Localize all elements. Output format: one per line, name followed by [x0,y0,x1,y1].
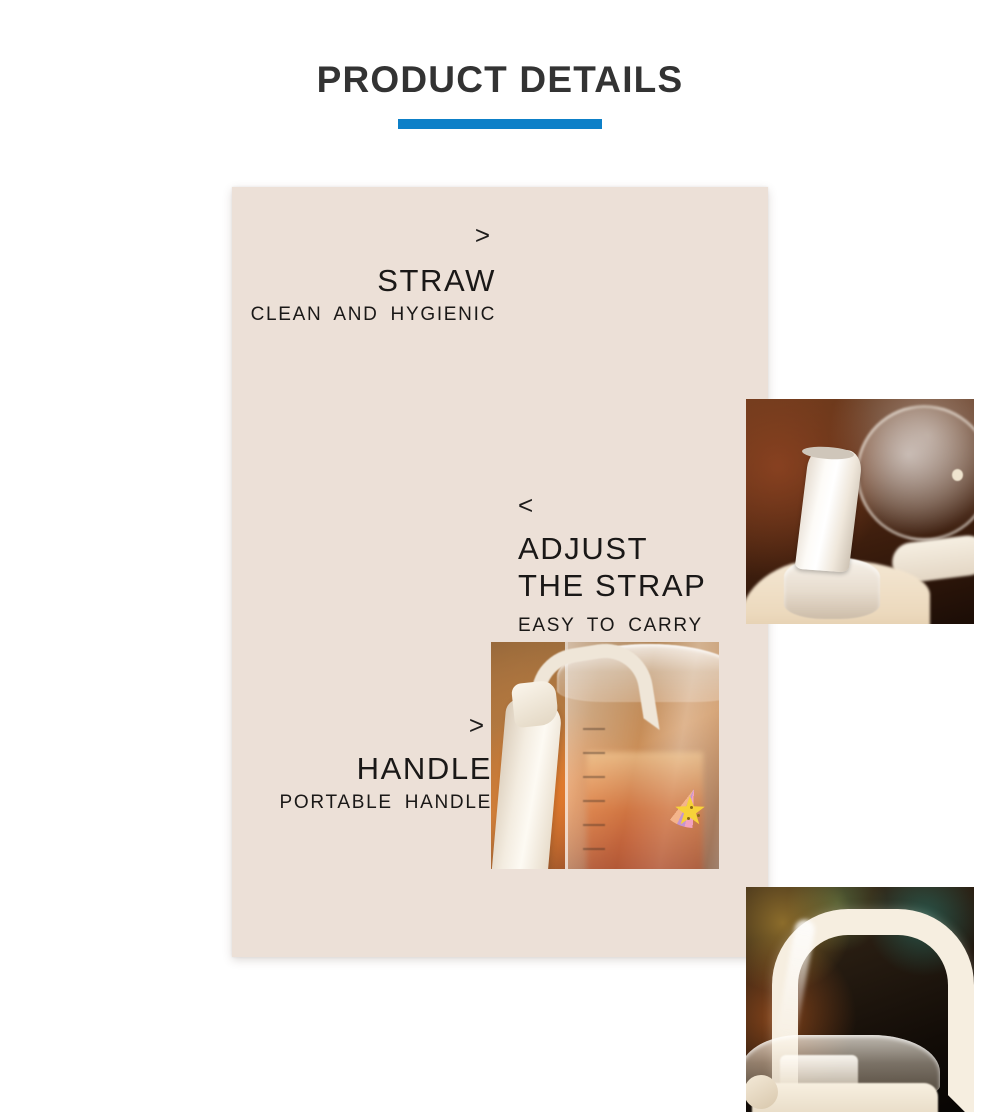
title-underline-rule [398,119,602,129]
feature-block-strap: < ADJUST THE STRAP EASY TO CARRY [518,492,768,638]
photo-straw-scene [746,399,974,624]
feature-heading-strap: ADJUST THE STRAP [518,530,718,604]
background-speck-shape [952,469,963,481]
straw-spout-shape [795,447,864,572]
star-dot-shape [687,817,690,820]
photo-strap-scene [491,642,719,869]
feature-block-straw: > STRAW CLEAN AND HYGIENIC [230,222,496,327]
feature-subtitle-strap: EASY TO CARRY [518,614,768,638]
chevron-right-icon: > [230,712,484,738]
feature-subtitle-handle: PORTABLE HANDLE [230,791,492,815]
product-photo-straw [746,399,974,624]
product-details-infographic: PRODUCT DETAILS [0,0,1000,1000]
product-photo-strap [491,642,719,869]
feature-heading-straw: STRAW [230,262,496,299]
star-dot-shape [690,806,693,809]
measurement-marks-shape [583,728,613,866]
feature-heading-handle: HANDLE [230,750,492,787]
page-title: PRODUCT DETAILS [0,57,1000,103]
star-dot-shape [697,814,700,817]
cup-body-shape [752,1083,938,1112]
feature-subtitle-straw: CLEAN AND HYGIENIC [230,303,496,327]
chevron-right-icon: > [230,222,490,248]
chevron-left-icon: < [518,492,768,518]
feature-block-handle: > HANDLE PORTABLE HANDLE [230,712,492,815]
